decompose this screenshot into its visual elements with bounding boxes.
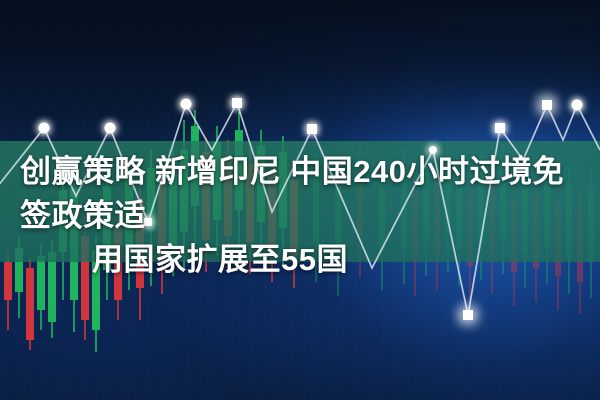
trend-node-circle [105, 123, 116, 134]
trend-node-square [495, 123, 505, 133]
trend-node-square [307, 124, 317, 134]
trend-node-circle [572, 100, 583, 111]
trend-node-square [232, 98, 242, 108]
trend-node-square [463, 310, 473, 320]
trend-node-circle [181, 99, 192, 110]
banner-image: 创赢策略 新增印尼 中国240小时过境免签政策适 用国家扩展至55国 [0, 0, 600, 400]
headline-line-1: 创赢策略 新增印尼 中国240小时过境免签政策适 [16, 150, 584, 238]
headline-line-2: 用国家扩展至55国 [16, 238, 584, 282]
headline-text: 创赢策略 新增印尼 中国240小时过境免签政策适 用国家扩展至55国 [0, 150, 600, 282]
trend-node-circle [39, 123, 50, 134]
trend-node-square [542, 100, 552, 110]
